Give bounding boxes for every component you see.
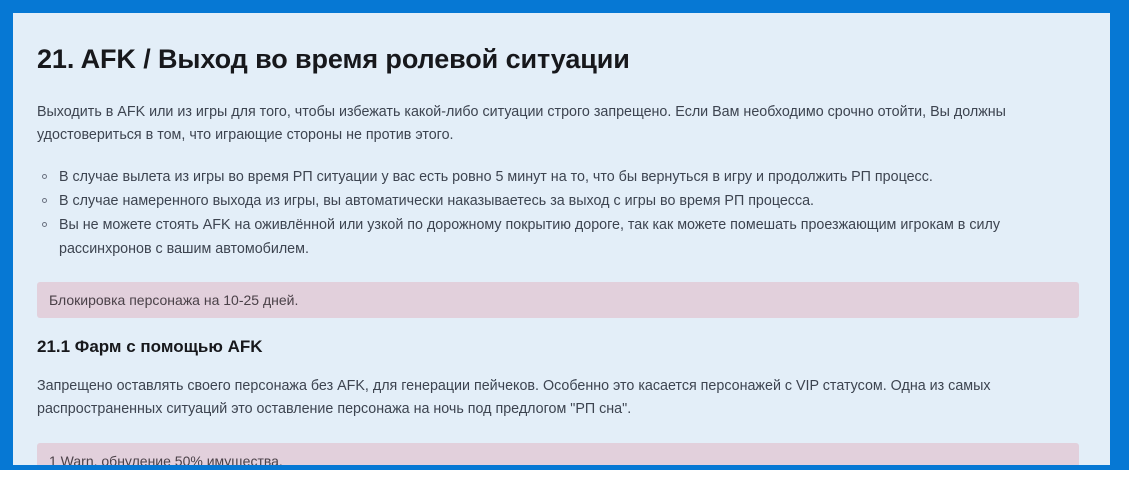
punishment-notice: 1 Warn, обнуление 50% имущества. <box>37 443 1079 465</box>
list-item: В случае вылета из игры во время РП ситу… <box>37 166 1079 189</box>
list-item-text: В случае вылета из игры во время РП ситу… <box>59 169 933 185</box>
circle-bullet-icon <box>42 174 47 179</box>
circle-bullet-icon <box>42 222 47 227</box>
subsection-title: 21.1 Фарм с помощью AFK <box>37 318 1082 358</box>
subsection-paragraph: Запрещено оставлять своего персонажа без… <box>37 358 1079 421</box>
list-item-text: В случае намеренного выхода из игры, вы … <box>59 193 814 209</box>
document-panel: 21. AFK / Выход во время ролевой ситуаци… <box>13 13 1110 465</box>
punishment-notice: Блокировка персонажа на 10-25 дней. <box>37 282 1079 318</box>
intro-paragraph: Выходить в AFK или из игры для того, что… <box>37 77 1079 147</box>
circle-bullet-icon <box>42 198 47 203</box>
document-content: 21. AFK / Выход во время ролевой ситуаци… <box>37 13 1082 465</box>
page-frame: 21. AFK / Выход во время ролевой ситуаци… <box>0 0 1129 470</box>
list-item-text: Вы не можете стоять AFK на оживлённой ил… <box>59 217 1000 256</box>
page-title: 21. AFK / Выход во время ролевой ситуаци… <box>37 13 1082 77</box>
list-item: В случае намеренного выхода из игры, вы … <box>37 190 1079 213</box>
rules-list: В случае вылета из игры во время РП ситу… <box>37 147 1082 261</box>
list-item: Вы не можете стоять AFK на оживлённой ил… <box>37 214 1079 260</box>
